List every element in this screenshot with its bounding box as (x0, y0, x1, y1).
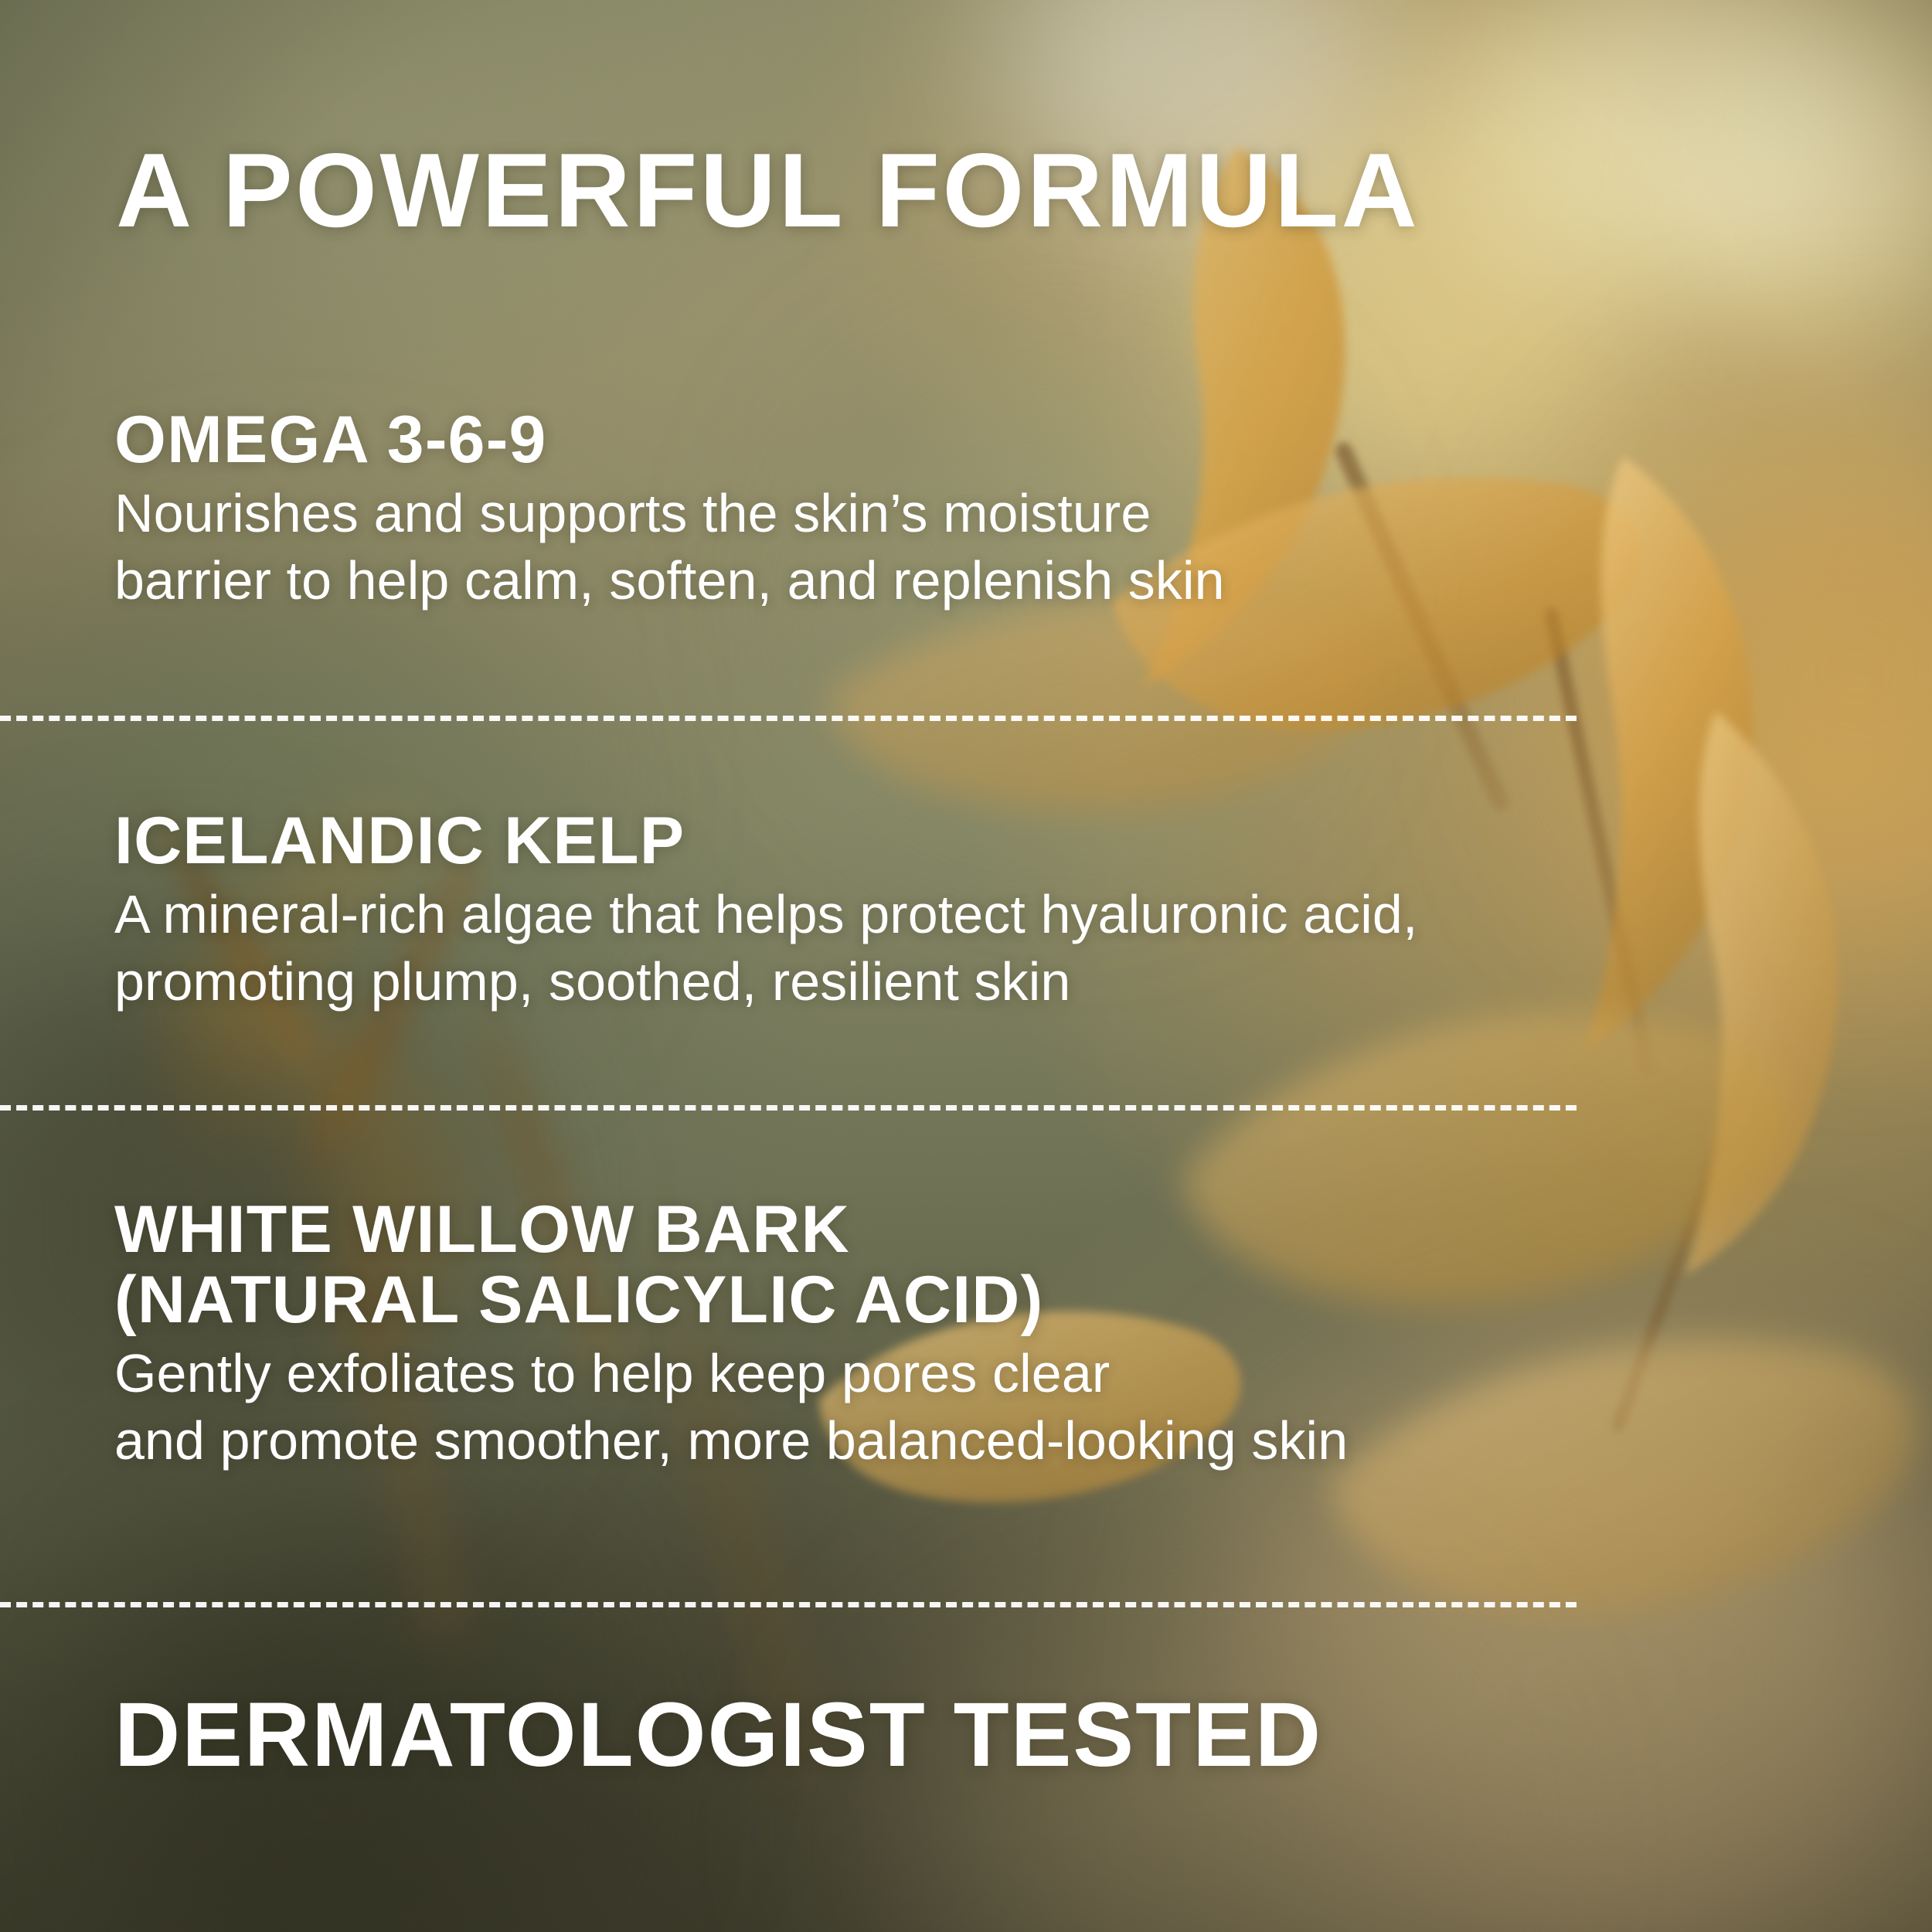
ingredient-heading-subline: (NATURAL SALICYLIC ACID) (114, 1265, 1348, 1335)
section-divider (0, 1105, 1577, 1111)
ingredient-section-omega: OMEGA 3-6-9 Nourishes and supports the s… (114, 405, 1225, 614)
ingredient-heading: ICELANDIC KELP (114, 806, 1418, 876)
ingredient-benefits-infographic: A POWERFUL FORMULA OMEGA 3-6-9 Nourishes… (0, 0, 1932, 1932)
section-divider (0, 716, 1577, 721)
page-title: A POWERFUL FORMULA (116, 138, 1420, 243)
ingredient-description-line: and promote smoother, more balanced-look… (114, 1407, 1348, 1475)
ingredient-description-line: promoting plump, soothed, resilient skin (114, 948, 1418, 1015)
ingredient-description-line: barrier to help calm, soften, and replen… (114, 547, 1225, 614)
section-divider (0, 1602, 1577, 1607)
content-layer: A POWERFUL FORMULA OMEGA 3-6-9 Nourishes… (0, 0, 1932, 1932)
dermatologist-tested-claim: DERMATOLOGIST TESTED (114, 1689, 1322, 1781)
ingredient-description-line: Gently exfoliates to help keep pores cle… (114, 1340, 1348, 1407)
ingredient-heading: OMEGA 3-6-9 (114, 405, 1225, 475)
ingredient-description-line: Nourishes and supports the skin’s moistu… (114, 480, 1225, 547)
ingredient-description-line: A mineral-rich algae that helps protect … (114, 881, 1418, 948)
ingredient-section-kelp: ICELANDIC KELP A mineral-rich algae that… (114, 806, 1418, 1015)
ingredient-section-willow-bark: WHITE WILLOW BARK (NATURAL SALICYLIC ACI… (114, 1195, 1348, 1475)
ingredient-heading: WHITE WILLOW BARK (114, 1195, 1348, 1265)
